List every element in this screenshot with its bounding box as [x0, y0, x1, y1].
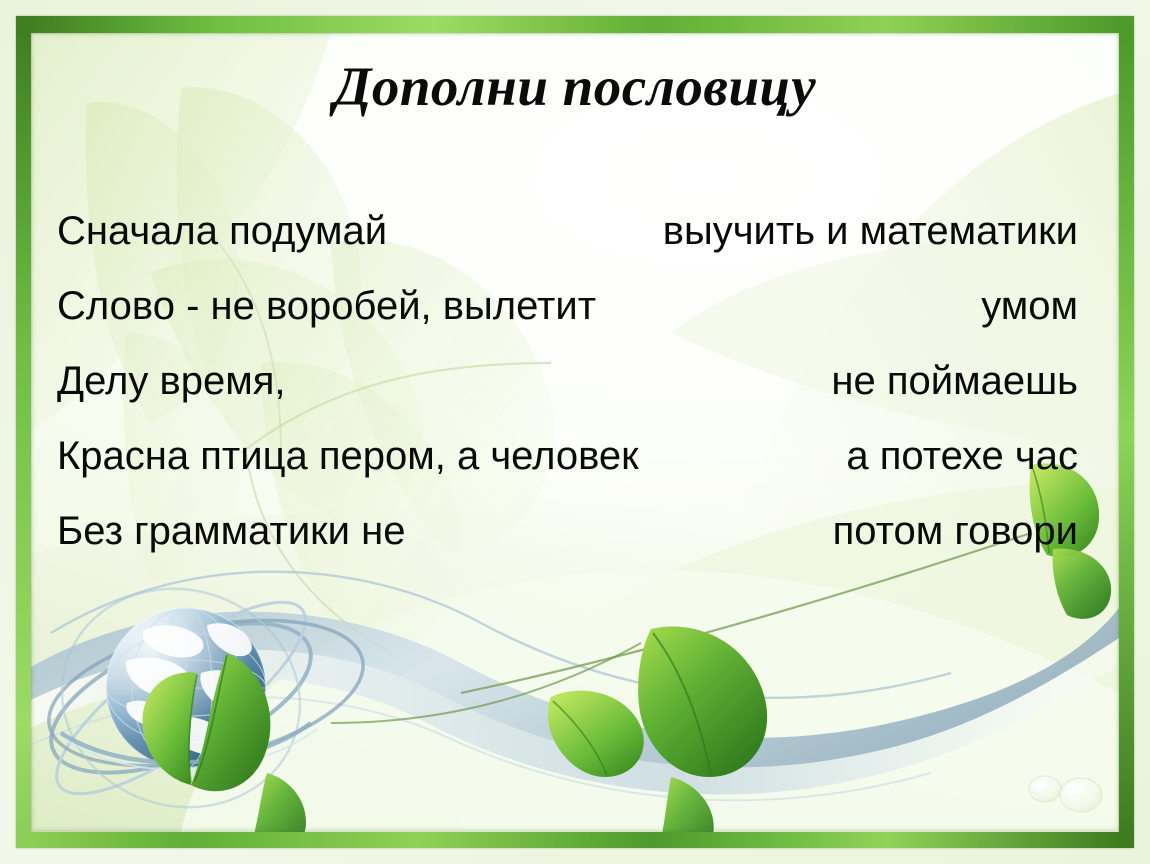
proverb-beginning[interactable]: Без грамматики не [57, 511, 405, 551]
proverb-beginning[interactable]: Слово - не воробей, вылетит [57, 286, 596, 326]
proverb-beginning[interactable]: Красна птица пером, а человек [57, 436, 639, 476]
slide: Дополни пословицу Сначала подумай выучит… [0, 0, 1150, 864]
proverb-pairs-list: Сначала подумай выучить и математики Сло… [57, 211, 1078, 586]
list-item: Слово - не воробей, вылетит умом [57, 286, 1078, 361]
list-item: Делу время, не поймаешь [57, 361, 1078, 436]
proverb-beginning[interactable]: Сначала подумай [57, 211, 387, 251]
proverb-ending[interactable]: а потехе час [846, 436, 1078, 476]
proverb-ending[interactable]: умом [981, 286, 1078, 326]
list-item: Сначала подумай выучить и математики [57, 211, 1078, 286]
proverb-ending[interactable]: выучить и математики [663, 211, 1078, 251]
proverb-ending[interactable]: не поймаешь [831, 361, 1078, 401]
proverb-beginning[interactable]: Делу время, [57, 361, 285, 401]
page-title: Дополни пословицу [0, 58, 1150, 116]
proverb-ending[interactable]: потом говори [833, 511, 1078, 551]
list-item: Красна птица пером, а человек а потехе ч… [57, 436, 1078, 511]
list-item: Без грамматики не потом говори [57, 511, 1078, 586]
